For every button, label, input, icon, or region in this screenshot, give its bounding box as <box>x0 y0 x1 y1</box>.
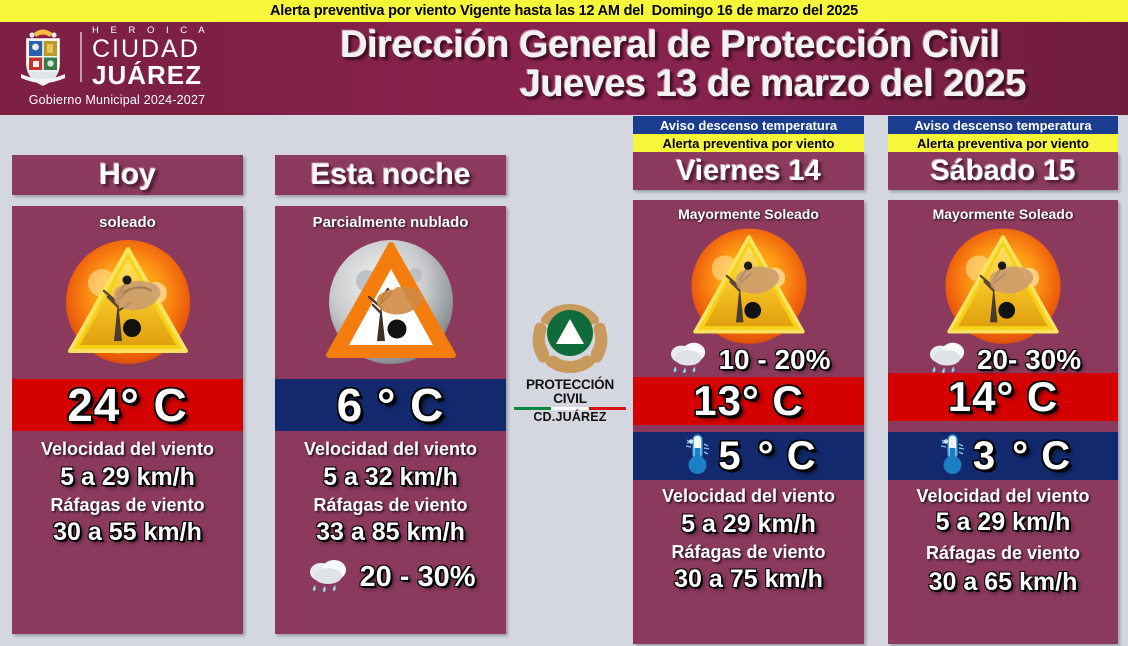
logo-subtitle: CD.JUÁREZ <box>508 411 632 424</box>
low-temperature-unit: ° C <box>1000 434 1071 479</box>
day-banner-viernes-14: Viernes 14 <box>633 152 864 190</box>
sun-with-wind-warning-icon <box>12 233 243 375</box>
condition-label: Mayormente Soleado <box>888 206 1118 222</box>
day-banner-sabado-15: Sábado 15 <box>888 152 1118 190</box>
city-brand-block: H E R O I C A CIUDAD JUÁREZ Gobierno Mun… <box>8 24 226 114</box>
day-banner-esta-noche: Esta noche <box>275 155 506 195</box>
rain-chance-row: 20 - 30% <box>275 555 506 600</box>
forecast-card-hoy[interactable]: Hoy soleado <box>12 155 243 634</box>
low-temperature-band: 5 ° C <box>633 432 864 480</box>
day-label: Viernes 14 <box>676 155 821 188</box>
wind-gust-value: 30 a 65 km/h <box>888 568 1118 597</box>
high-temperature-band: 24 ° C <box>12 379 243 431</box>
brand-ciudad-label: CIUDAD <box>92 38 209 62</box>
rain-chance-value: 10 - 20% <box>718 344 830 376</box>
rain-cloud-icon <box>666 338 712 381</box>
low-temperature-band: 6 ° C <box>275 379 506 431</box>
page-header: H E R O I C A CIUDAD JUÁREZ Gobierno Mun… <box>0 22 1128 115</box>
wind-speed-label: Velocidad del viento <box>888 486 1118 507</box>
page-title: Dirección General de Protección Civil <box>230 26 1110 65</box>
notice-text: Aviso descenso temperatura <box>914 118 1091 133</box>
rain-chance-row: 10 - 20% <box>633 338 864 381</box>
forecast-card-sabado-15[interactable]: Aviso descenso temperatura Alerta preven… <box>888 116 1118 644</box>
low-temperature-value: 3 <box>973 434 996 479</box>
wind-info-block: Velocidad del viento 5 a 29 km/h Ráfagas… <box>12 439 243 547</box>
notice-text: Aviso descenso temperatura <box>660 118 837 133</box>
notice-wind-alert: Alerta preventiva por viento <box>888 134 1118 152</box>
card-body-sabado-15: Mayormente Soleado <box>888 200 1118 644</box>
notice-temperature-drop: Aviso descenso temperatura <box>888 116 1118 134</box>
wind-speed-value: 5 a 32 km/h <box>275 463 506 492</box>
wind-gust-value: 30 a 75 km/h <box>633 565 864 594</box>
high-temperature-band: 13 ° C <box>633 377 864 425</box>
header-title-block: Dirección General de Protección Civil Ju… <box>230 26 1110 104</box>
wind-gust-label: Ráfagas de viento <box>888 543 1118 564</box>
high-temperature-value: 24 <box>67 378 120 432</box>
moon-with-wind-warning-icon <box>275 233 506 375</box>
day-label: Hoy <box>99 158 156 192</box>
low-temperature-band: 3 ° C <box>888 432 1118 480</box>
low-temperature-value: 5 <box>718 434 741 479</box>
brand-juarez-label: JUÁREZ <box>92 62 209 88</box>
wind-gust-value: 33 a 85 km/h <box>275 518 506 547</box>
wind-info-block: Velocidad del viento 5 a 29 km/h Ráfagas… <box>633 486 864 594</box>
condition-label: Parcialmente nublado <box>275 214 506 231</box>
card-body-esta-noche: Parcialmente nublado <box>275 206 506 634</box>
notice-text: Alerta preventiva por viento <box>663 136 835 151</box>
brand-divider <box>80 32 82 82</box>
wind-gust-value: 30 a 55 km/h <box>12 518 243 547</box>
rain-chance-row: 20- 30% <box>888 338 1118 381</box>
logo-title: PROTECCIÓN CIVIL <box>508 378 632 406</box>
rain-cloud-icon <box>305 555 353 600</box>
low-temperature-unit: ° C <box>363 378 444 432</box>
proteccion-civil-triangle-icon <box>508 300 632 378</box>
day-label: Sábado 15 <box>930 155 1075 188</box>
low-temperature-value: 6 <box>337 378 364 432</box>
proteccion-civil-logo: PROTECCIÓN CIVIL CD.JUÁREZ <box>508 300 632 420</box>
card-body-hoy: soleado <box>12 206 243 634</box>
high-temperature-value: 13 <box>693 377 742 425</box>
brand-government-label: Gobierno Municipal 2024-2027 <box>8 93 226 107</box>
rain-cloud-icon <box>925 338 971 381</box>
card-body-viernes-14: Mayormente Soleado <box>633 200 864 644</box>
notice-text: Alerta preventiva por viento <box>917 136 1089 151</box>
wind-speed-label: Velocidad del viento <box>633 486 864 507</box>
wind-speed-label: Velocidad del viento <box>275 439 506 460</box>
wind-info-block: Velocidad del viento 5 a 32 km/h Ráfagas… <box>275 439 506 547</box>
high-temperature-unit: ° C <box>120 378 187 432</box>
wind-gust-label: Ráfagas de viento <box>275 495 506 516</box>
low-temperature-unit: ° C <box>746 434 817 479</box>
day-banner-hoy: Hoy <box>12 155 243 195</box>
wind-gust-label: Ráfagas de viento <box>12 495 243 516</box>
wind-gust-label: Ráfagas de viento <box>633 542 864 563</box>
coat-of-arms-icon <box>16 26 70 88</box>
day-label: Esta noche <box>310 158 470 192</box>
cold-thermometer-icon <box>935 432 969 481</box>
wind-info-block: Velocidad del viento 5 a 29 km/h Ráfagas… <box>888 486 1118 597</box>
top-alert-text: Alerta preventiva por viento Vigente has… <box>270 3 858 19</box>
forecast-card-esta-noche[interactable]: Esta noche Parcialmente nublado <box>275 155 506 634</box>
top-alert-banner: Alerta preventiva por viento Vigente has… <box>0 0 1128 22</box>
wind-speed-label: Velocidad del viento <box>12 439 243 460</box>
sun-with-wind-warning-icon <box>888 222 1118 354</box>
high-temperature-unit: ° C <box>742 377 804 425</box>
rain-chance-value: 20- 30% <box>977 344 1081 376</box>
header-date: Jueves 13 de marzo del 2025 <box>230 65 1110 104</box>
cold-thermometer-icon <box>680 432 714 481</box>
wind-speed-value: 5 a 29 km/h <box>633 510 864 539</box>
wind-speed-value: 5 a 29 km/h <box>888 508 1118 537</box>
notice-temperature-drop: Aviso descenso temperatura <box>633 116 864 134</box>
condition-label: soleado <box>12 214 243 231</box>
condition-label: Mayormente Soleado <box>633 206 864 222</box>
rain-chance-value: 20 - 30% <box>359 561 475 594</box>
sun-with-wind-warning-icon <box>633 222 864 354</box>
notice-wind-alert: Alerta preventiva por viento <box>633 134 864 152</box>
wind-speed-value: 5 a 29 km/h <box>12 463 243 492</box>
forecast-card-viernes-14[interactable]: Aviso descenso temperatura Alerta preven… <box>633 116 864 644</box>
